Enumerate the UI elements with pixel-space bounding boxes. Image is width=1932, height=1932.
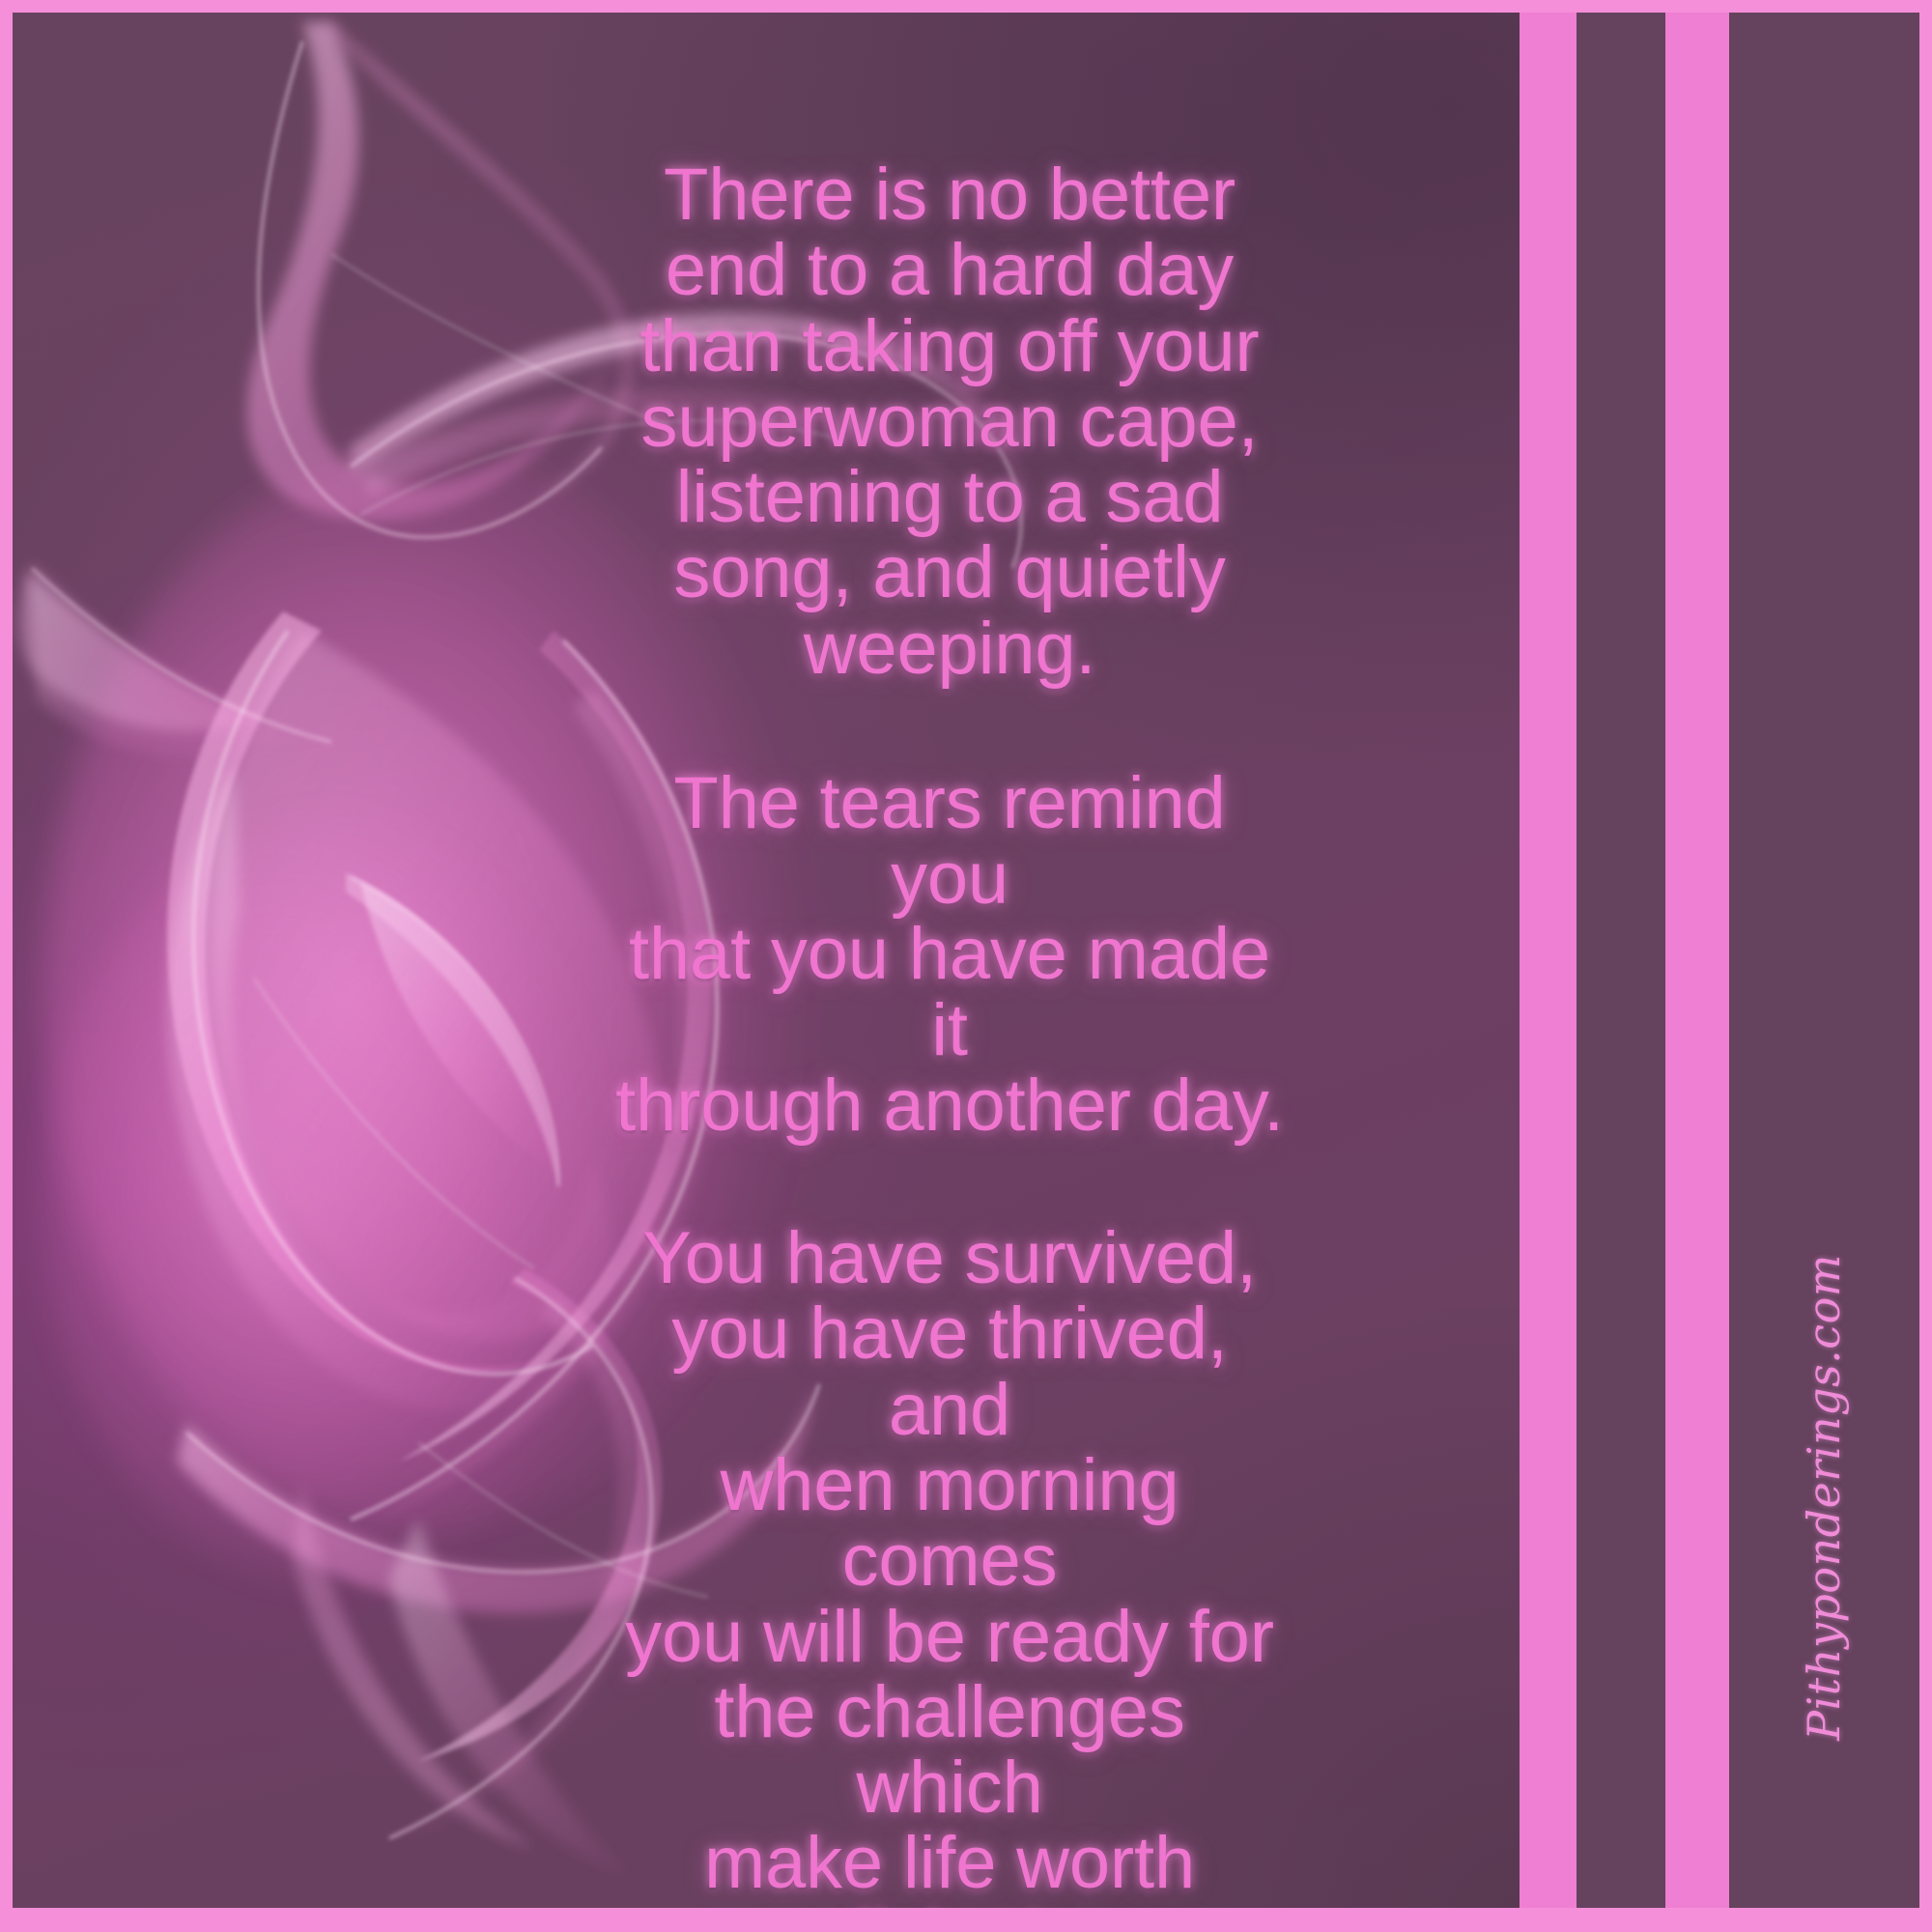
quote-line: superwoman cape, — [611, 384, 1288, 460]
quote-line: There is no better — [611, 157, 1288, 233]
quote-text-block: There is no better end to a hard day tha… — [611, 157, 1288, 1908]
frame-border-top — [0, 0, 1932, 13]
quote-line: you have thrived, and — [611, 1296, 1288, 1448]
quote-line: You have survived, — [611, 1221, 1288, 1296]
frame-border-bottom — [0, 1908, 1932, 1932]
decorative-stripe-dark-outer — [1729, 13, 1919, 1908]
quote-line: song, and quietly — [611, 535, 1288, 611]
quote-line: than taking off your — [611, 309, 1288, 384]
quote-line: through another day. — [611, 1068, 1288, 1144]
quote-line: that you have made it — [611, 917, 1288, 1068]
decorative-stripe-dark-inner — [1577, 13, 1665, 1908]
decorative-stripe-pink-inner — [1665, 13, 1729, 1908]
poster-canvas: There is no better end to a hard day tha… — [0, 0, 1932, 1932]
quote-line: weeping. — [611, 611, 1288, 687]
quote-line: the challenges which — [611, 1675, 1288, 1827]
quote-paragraph-2: The tears remind you that you have made … — [611, 766, 1288, 1144]
quote-line: listening to a sad — [611, 460, 1288, 535]
paragraph-spacer — [611, 687, 1288, 766]
quote-line: you will be ready for — [611, 1600, 1288, 1675]
frame-border-left — [0, 0, 13, 1932]
artwork-panel: There is no better end to a hard day tha… — [13, 13, 1520, 1908]
paragraph-spacer — [611, 1144, 1288, 1221]
quote-line: end to a hard day — [611, 233, 1288, 308]
quote-line: The tears remind you — [611, 766, 1288, 918]
frame-border-right — [1919, 0, 1932, 1932]
quote-line: when morning comes — [611, 1448, 1288, 1600]
decorative-stripe-pink-outer — [1520, 13, 1577, 1908]
quote-paragraph-3: You have survived, you have thrived, and… — [611, 1221, 1288, 1908]
quote-paragraph-1: There is no better end to a hard day tha… — [611, 157, 1288, 687]
quote-line: make life worth living! — [611, 1826, 1288, 1908]
